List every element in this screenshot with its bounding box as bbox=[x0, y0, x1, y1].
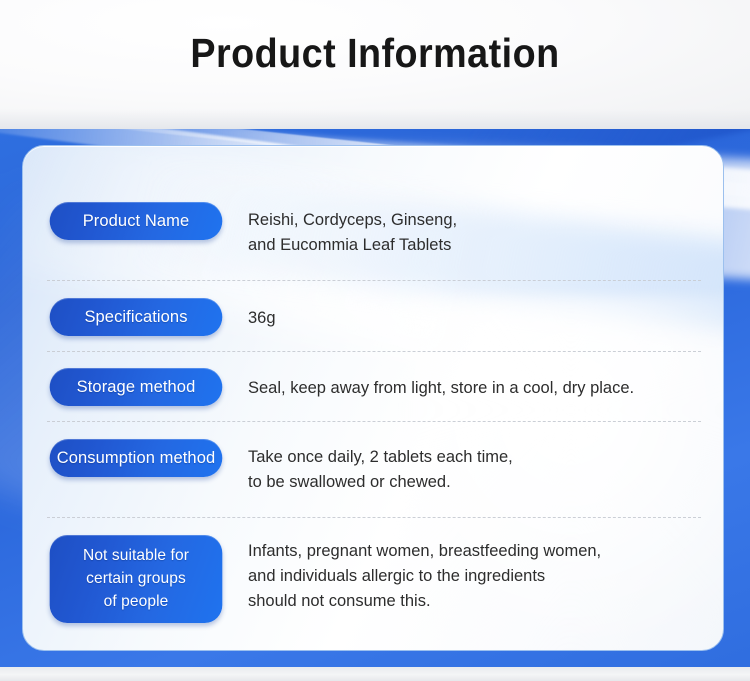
spec-row-specifications: Specifications 36g bbox=[47, 298, 701, 336]
spec-row-consumption-method: Consumption method Take once daily, 2 ta… bbox=[47, 439, 701, 495]
row-separator bbox=[47, 517, 701, 518]
value-product-name: Reishi, Cordyceps, Ginseng, and Eucommia… bbox=[248, 202, 701, 258]
label-pill-specifications: Specifications bbox=[50, 298, 223, 336]
row-separator bbox=[47, 421, 701, 422]
spec-rows: Product Name Reishi, Cordyceps, Ginseng,… bbox=[23, 146, 723, 650]
spec-row-product-name: Product Name Reishi, Cordyceps, Ginseng,… bbox=[47, 202, 701, 258]
bottom-strip bbox=[0, 667, 750, 681]
product-info-card: Product Name Reishi, Cordyceps, Ginseng,… bbox=[22, 145, 724, 651]
spec-row-storage-method: Storage method Seal, keep away from ligh… bbox=[47, 368, 701, 406]
value-specifications: 36g bbox=[248, 298, 701, 331]
value-not-suitable: Infants, pregnant women, breastfeeding w… bbox=[248, 535, 701, 614]
label-pill-consumption-method: Consumption method bbox=[50, 439, 223, 477]
product-information-screen: Product Information Product Name Reishi,… bbox=[0, 0, 750, 681]
value-storage-method: Seal, keep away from light, store in a c… bbox=[248, 368, 701, 401]
header-band: Product Information bbox=[0, 0, 750, 129]
page-title: Product Information bbox=[30, 30, 720, 77]
spec-row-not-suitable: Not suitable for certain groups of peopl… bbox=[47, 535, 701, 623]
label-pill-product-name: Product Name bbox=[50, 202, 223, 240]
label-pill-storage-method: Storage method bbox=[50, 368, 223, 406]
row-separator bbox=[47, 280, 701, 281]
label-pill-not-suitable: Not suitable for certain groups of peopl… bbox=[50, 535, 223, 623]
value-consumption-method: Take once daily, 2 tablets each time, to… bbox=[248, 439, 701, 495]
row-separator bbox=[47, 351, 701, 352]
blue-frame-band: Product Name Reishi, Cordyceps, Ginseng,… bbox=[0, 129, 750, 681]
